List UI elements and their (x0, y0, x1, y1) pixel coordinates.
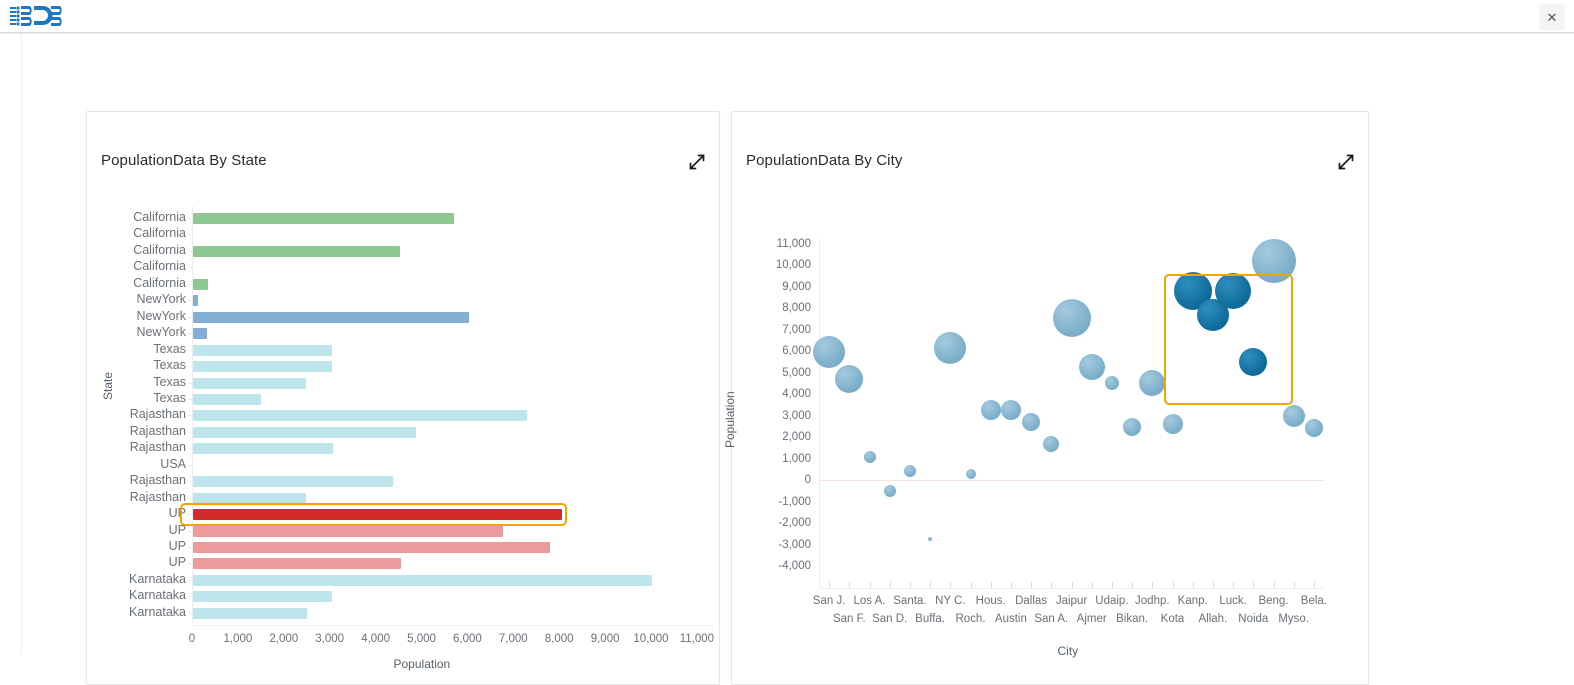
scatter-x-category-label: Dallas (1015, 595, 1047, 607)
scatter-y-axis-line (819, 238, 820, 588)
bar-x-tick-label: 6,000 (453, 633, 482, 645)
bar-category-label: UP (90, 523, 186, 537)
bar-x-axis-title: Population (394, 657, 451, 671)
scatter-x-tick-mark (1173, 582, 1174, 588)
scatter-x-tick-mark (1213, 582, 1214, 588)
scatter-x-category-label: Jodhp. (1135, 595, 1170, 607)
bar-category-label: Rajasthan (90, 440, 186, 454)
scatter-bubble[interactable] (1123, 418, 1141, 436)
bar-category-label: NewYork (90, 325, 186, 339)
bar-x-tick-label: 10,000 (633, 633, 668, 645)
scatter-chart-plot-area: 11,00010,0009,0008,0007,0006,0005,0004,0… (732, 112, 1368, 684)
scatter-x-tick-mark (950, 582, 951, 588)
bar-segment[interactable] (193, 394, 261, 405)
scatter-bubble[interactable] (928, 537, 932, 541)
scatter-x-category-label: San J. (813, 595, 846, 607)
scatter-y-tick-label: 4,000 (739, 388, 811, 400)
bar-category-label: Karnataka (90, 572, 186, 586)
bar-axis-tick (188, 547, 192, 548)
bar-axis-tick (188, 498, 192, 499)
bar-axis-tick (188, 218, 192, 219)
dashboard-workspace: PopulationData By State CaliforniaCalifo… (0, 33, 1574, 653)
bar-segment[interactable] (193, 476, 393, 487)
scatter-x-category-label: NY C. (935, 595, 965, 607)
bar-category-label: Rajasthan (90, 424, 186, 438)
scatter-bubble[interactable] (1079, 354, 1105, 380)
bar-axis-tick (188, 366, 192, 367)
scatter-x-category-label: Hous. (976, 595, 1006, 607)
panel-population-by-state: PopulationData By State CaliforniaCalifo… (86, 111, 720, 685)
scatter-x-tick-mark (829, 582, 830, 588)
scatter-bubble[interactable] (1252, 239, 1296, 283)
bar-segment[interactable] (193, 328, 207, 339)
scatter-bubble[interactable] (904, 465, 916, 477)
scatter-bubble[interactable] (1139, 370, 1165, 396)
bar-axis-tick (188, 284, 192, 285)
bar-category-label: UP (90, 539, 186, 553)
scatter-x-category-label: Ajmer (1077, 613, 1107, 625)
scatter-y-tick-label: 9,000 (739, 281, 811, 293)
bar-axis-tick (188, 596, 192, 597)
bar-category-label: UP (90, 506, 186, 520)
scatter-bubble[interactable] (1053, 299, 1091, 337)
scatter-x-tick-mark (1072, 582, 1073, 588)
bar-axis-tick (188, 383, 192, 384)
scatter-x-tick-mark (1152, 582, 1153, 588)
bar-x-tick-label: 9,000 (591, 633, 620, 645)
bar-axis-tick (188, 481, 192, 482)
bar-segment[interactable] (193, 312, 469, 323)
scatter-x-tick-mark (1112, 582, 1113, 588)
scatter-x-axis-title: City (1058, 644, 1079, 658)
scatter-x-tick-mark (890, 582, 891, 588)
bdb-logo-mark (8, 3, 70, 29)
scatter-x-category-label: Buffa. (915, 613, 945, 625)
scatter-x-tick-mark (1092, 582, 1093, 588)
scatter-x-category-label: Los A. (854, 595, 886, 607)
scatter-y-tick-label: 0 (739, 474, 811, 486)
bar-axis-tick (188, 333, 192, 334)
scatter-bubble[interactable] (864, 451, 876, 463)
scatter-x-category-label: Luck. (1219, 595, 1247, 607)
scatter-x-tick-mark (849, 582, 850, 588)
bar-axis-tick (188, 350, 192, 351)
bar-segment[interactable] (193, 542, 550, 553)
scatter-bubble[interactable] (981, 400, 1001, 420)
scatter-x-category-label: Kanp. (1178, 595, 1208, 607)
bar-category-label: California (90, 210, 186, 224)
scatter-bubble[interactable] (835, 365, 863, 393)
scatter-x-tick-mark (1132, 582, 1133, 588)
scatter-x-category-label: Bela. (1301, 595, 1327, 607)
scatter-x-category-label: Santa. (893, 595, 926, 607)
scatter-x-category-label: Kota (1161, 613, 1185, 625)
left-rail (0, 34, 22, 654)
scatter-x-tick-mark (910, 582, 911, 588)
scatter-x-tick-mark (991, 582, 992, 588)
bar-category-label: Texas (90, 342, 186, 356)
scatter-y-tick-label: 6,000 (739, 345, 811, 357)
scatter-y-tick-label: 5,000 (739, 367, 811, 379)
app-header: ✕ (0, 0, 1574, 33)
scatter-zero-line (819, 480, 1324, 481)
scatter-x-category-label: Austin (995, 613, 1027, 625)
bar-segment[interactable] (193, 526, 503, 537)
bar-segment[interactable] (193, 427, 416, 438)
bar-segment[interactable] (193, 591, 332, 602)
scatter-x-category-label: Roch. (955, 613, 985, 625)
bdb-logo[interactable] (8, 3, 70, 29)
scatter-y-tick-label: 10,000 (739, 259, 811, 271)
bar-chart-x-axis-line (192, 625, 713, 626)
scatter-x-category-label: Allah. (1199, 613, 1228, 625)
scatter-x-tick-mark (1011, 582, 1012, 588)
close-icon[interactable]: ✕ (1539, 4, 1565, 30)
bar-axis-tick (188, 267, 192, 268)
bar-axis-tick (188, 448, 192, 449)
scatter-x-category-label: San F. (833, 613, 866, 625)
scatter-y-tick-label: 7,000 (739, 324, 811, 336)
bar-x-tick-label: 2,000 (269, 633, 298, 645)
scatter-y-tick-label: -1,000 (739, 496, 811, 508)
scatter-bubble[interactable] (1163, 414, 1183, 434)
bar-x-tick-label: 5,000 (407, 633, 436, 645)
scatter-y-tick-label: 3,000 (739, 410, 811, 422)
scatter-y-tick-label: -3,000 (739, 539, 811, 551)
bar-segment[interactable] (193, 575, 652, 586)
bar-x-tick-label: 11,000 (680, 633, 714, 645)
panel-population-by-city: PopulationData By City 11,00010,0009,000… (731, 111, 1369, 685)
bar-category-label: Rajasthan (90, 407, 186, 421)
scatter-bubble[interactable] (1022, 413, 1040, 431)
scatter-x-tick-mark (1031, 582, 1032, 588)
scatter-x-category-label: Noida (1238, 613, 1268, 625)
bar-category-label: UP (90, 555, 186, 569)
scatter-x-tick-mark (1314, 582, 1315, 588)
bar-axis-tick (188, 432, 192, 433)
scatter-bubble[interactable] (1305, 419, 1323, 437)
scatter-y-tick-label: 2,000 (739, 431, 811, 443)
bar-chart-plot-area: CaliforniaCaliforniaCaliforniaCalifornia… (87, 112, 719, 684)
bar-x-tick-label: 3,000 (315, 633, 344, 645)
bar-axis-tick (188, 465, 192, 466)
bar-axis-tick (188, 317, 192, 318)
bar-segment[interactable] (193, 410, 527, 421)
scatter-y-tick-label: 1,000 (739, 453, 811, 465)
scatter-x-tick-mark (1051, 582, 1052, 588)
bar-segment[interactable] (193, 493, 306, 504)
scatter-x-tick-mark (930, 582, 931, 588)
bar-y-axis-title: State (101, 372, 115, 400)
scatter-bubble[interactable] (884, 485, 896, 497)
scatter-x-tick-mark (1274, 582, 1275, 588)
scatter-bubble[interactable] (966, 469, 976, 479)
scatter-x-category-label: Beng. (1258, 595, 1288, 607)
scatter-x-axis-line (819, 588, 1324, 589)
bar-category-label: Rajasthan (90, 473, 186, 487)
bar-segment[interactable] (193, 361, 332, 372)
scatter-y-tick-label: 8,000 (739, 302, 811, 314)
scatter-x-category-label: San A. (1034, 613, 1068, 625)
bar-axis-tick (188, 251, 192, 252)
scatter-x-category-label: Myso. (1278, 613, 1309, 625)
scatter-bubble[interactable] (1105, 376, 1119, 390)
scatter-bubble[interactable] (934, 332, 966, 364)
bar-axis-tick (188, 514, 192, 515)
bar-x-tick-label: 4,000 (361, 633, 390, 645)
bar-axis-tick (188, 300, 192, 301)
bar-segment[interactable] (193, 608, 307, 619)
bar-category-label: USA (90, 457, 186, 471)
bar-axis-tick (188, 531, 192, 532)
scatter-bubble[interactable] (1001, 400, 1021, 420)
bar-x-tick-label: 1,000 (224, 633, 253, 645)
scatter-x-category-label: San D. (872, 613, 907, 625)
bar-segment[interactable] (193, 378, 306, 389)
scatter-x-tick-mark (1233, 582, 1234, 588)
scatter-y-tick-label: -4,000 (739, 560, 811, 572)
scatter-x-tick-mark (971, 582, 972, 588)
bar-category-label: NewYork (90, 292, 186, 306)
bar-category-label: Karnataka (90, 588, 186, 602)
scatter-x-category-label: Udaip. (1095, 595, 1128, 607)
bar-segment[interactable] (193, 246, 400, 257)
bar-axis-tick (188, 399, 192, 400)
bar-x-tick-label: 7,000 (499, 633, 528, 645)
scatter-x-tick-mark (1193, 582, 1194, 588)
bar-category-label: NewYork (90, 309, 186, 323)
scatter-bubble[interactable] (1043, 436, 1059, 452)
scatter-bubble[interactable] (1215, 273, 1251, 309)
bar-segment[interactable] (193, 443, 333, 454)
scatter-bubble[interactable] (1283, 405, 1305, 427)
scatter-y-tick-label: -2,000 (739, 517, 811, 529)
bar-axis-tick (188, 580, 192, 581)
bar-category-label: California (90, 243, 186, 257)
bar-category-label: Karnataka (90, 605, 186, 619)
scatter-x-tick-mark (1253, 582, 1254, 588)
scatter-x-tick-mark (1294, 582, 1295, 588)
scatter-y-tick-label: 11,000 (739, 238, 811, 250)
scatter-y-axis-title: Population (723, 391, 737, 448)
scatter-x-category-label: Bikan. (1116, 613, 1148, 625)
bar-axis-tick (188, 234, 192, 235)
bar-axis-tick (188, 415, 192, 416)
scatter-x-category-label: Jaipur (1056, 595, 1087, 607)
bar-category-label: California (90, 259, 186, 273)
bar-segment[interactable] (193, 509, 562, 520)
bar-x-tick-label: 8,000 (545, 633, 574, 645)
bar-segment[interactable] (193, 295, 198, 306)
bar-x-tick-label: 0 (189, 633, 195, 645)
bar-segment[interactable] (193, 345, 332, 356)
bar-category-label: California (90, 226, 186, 240)
bar-segment[interactable] (193, 558, 401, 569)
scatter-x-tick-mark (870, 582, 871, 588)
bar-axis-tick (188, 613, 192, 614)
bar-segment[interactable] (193, 279, 208, 290)
bar-category-label: California (90, 276, 186, 290)
bar-segment[interactable] (193, 213, 454, 224)
bar-axis-tick (188, 563, 192, 564)
bar-category-label: Rajasthan (90, 490, 186, 504)
bar-category-label: Texas (90, 358, 186, 372)
scatter-bubble[interactable] (1239, 348, 1267, 376)
scatter-bubble[interactable] (813, 336, 845, 368)
